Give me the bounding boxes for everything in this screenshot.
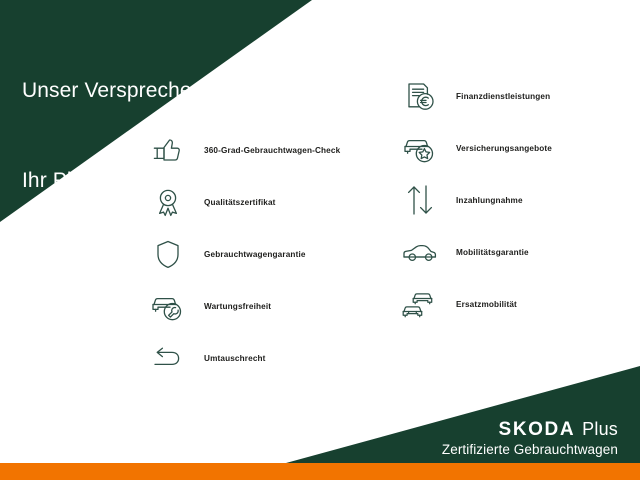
return-arrow-icon (146, 336, 190, 380)
feature-item-maintenance-free: Wartungsfreiheit (146, 280, 340, 332)
up-down-arrows-icon (398, 178, 442, 222)
feature-label: Mobilitätsgarantie (456, 248, 529, 257)
two-cars-icon (398, 282, 442, 326)
headline-line-1: Unser Versprechen. (22, 76, 209, 106)
orange-footer-bar (0, 463, 640, 480)
brand-tagline: Zertifizierte Gebrauchtwagen (442, 442, 618, 458)
brand-logo-row: SKODA Plus (442, 420, 618, 439)
plus-wordmark: Plus (582, 420, 618, 439)
feature-list-right: Finanzdienstleistungen Versicherungsange… (398, 70, 552, 330)
car-side-icon (398, 230, 442, 274)
feature-label: Finanzdienstleistungen (456, 92, 550, 101)
feature-label: Qualitätszertifikat (204, 198, 276, 207)
feature-item-quality-certificate: Qualitätszertifikat (146, 176, 340, 228)
skoda-wordmark: SKODA (499, 420, 576, 439)
feature-label: Ersatzmobilität (456, 300, 517, 309)
feature-list-left: 360-Grad-Gebrauchtwagen-Check Qualitätsz… (146, 124, 340, 384)
feature-item-financial-services: Finanzdienstleistungen (398, 70, 552, 122)
feature-item-trade-in: Inzahlungnahme (398, 174, 552, 226)
feature-item-insurance-offers: Versicherungsangebote (398, 122, 552, 174)
brand-logo-lockup: SKODA Plus Zertifizierte Gebrauchtwagen (442, 420, 618, 458)
slide-canvas: Unser Versprechen. Ihr Plus. 360-Grad-Ge… (0, 0, 640, 480)
feature-label: 360-Grad-Gebrauchtwagen-Check (204, 146, 340, 155)
document-euro-icon (398, 74, 442, 118)
feature-label: Umtauschrecht (204, 354, 266, 363)
feature-label: Wartungsfreiheit (204, 302, 271, 311)
feature-label: Gebrauchtwagengarantie (204, 250, 306, 259)
feature-label: Versicherungsangebote (456, 144, 552, 153)
feature-item-mobility-guarantee: Mobilitätsgarantie (398, 226, 552, 278)
award-rosette-icon (146, 180, 190, 224)
car-wrench-icon (146, 284, 190, 328)
shield-icon (146, 232, 190, 276)
feature-item-warranty: Gebrauchtwagengarantie (146, 228, 340, 280)
feature-item-360-check: 360-Grad-Gebrauchtwagen-Check (146, 124, 340, 176)
car-star-icon (398, 126, 442, 170)
feature-label: Inzahlungnahme (456, 196, 523, 205)
thumbs-up-icon (146, 128, 190, 172)
feature-item-return-right: Umtauschrecht (146, 332, 340, 384)
feature-item-replacement-mobility: Ersatzmobilität (398, 278, 552, 330)
